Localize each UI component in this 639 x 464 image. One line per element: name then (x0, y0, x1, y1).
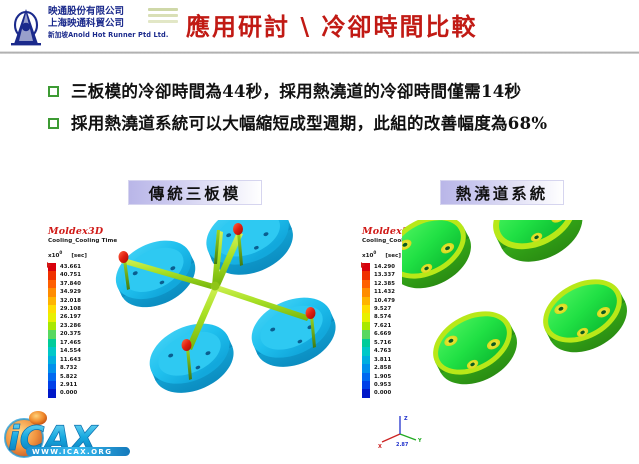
legend-swatch (362, 305, 370, 313)
axis-scale-value: 2.87 (396, 442, 409, 448)
legend-swatch (48, 356, 56, 364)
bullet-text: 三板模的冷卻時間為44秒，採用熱澆道的冷卻時間僅需14秒 (71, 80, 521, 103)
legend-swatch (48, 288, 56, 296)
logo-bar-1 (148, 8, 178, 11)
logo-bar-2 (148, 14, 178, 17)
legend-value: 14.554 (60, 347, 81, 355)
legend-swatch (362, 364, 370, 372)
legend-value: 29.108 (60, 305, 81, 313)
axis-label-y: Y (417, 438, 422, 444)
legend-swatch (48, 373, 56, 381)
legend-swatch (362, 280, 370, 288)
legend-swatch (48, 271, 56, 279)
legend-swatch (48, 381, 56, 389)
legend-value: 11.432 (374, 288, 395, 296)
icax-url-text: WWW.ICAX.ORG (32, 448, 112, 456)
logo-decorative-bars (148, 8, 178, 30)
mold-part (422, 299, 528, 398)
page-title: 應用研討 \ 冷卻時間比較 (186, 10, 516, 44)
legend-value: 2.858 (374, 364, 391, 372)
legend-swatch (362, 389, 370, 397)
square-bullet-icon (48, 86, 59, 97)
panel-caption-left: 傳統三板模 (128, 180, 262, 205)
legend-max-arrow-icon (47, 262, 51, 268)
legend-value: 6.669 (374, 330, 391, 338)
legend-swatch (362, 339, 370, 347)
legend-value: 0.000 (374, 389, 391, 397)
legend-swatch (362, 347, 370, 355)
unit-scale-left: x10 (48, 253, 59, 259)
legend-value: 3.811 (374, 356, 391, 364)
legend-swatch (362, 271, 370, 279)
legend-swatch (362, 297, 370, 305)
legend-swatch (48, 389, 56, 397)
legend-value: 13.337 (374, 271, 395, 279)
mold-part (140, 312, 243, 405)
mold-part (106, 229, 205, 319)
legend-swatch (48, 313, 56, 321)
legend-swatch (362, 381, 370, 389)
logo-bar-3 (148, 20, 178, 23)
legend-max-arrow-icon (361, 262, 365, 268)
mold-part (482, 220, 594, 275)
legend-value: 43.661 (60, 263, 81, 271)
company-line-3: 新加坡Anold Hot Runner Ptd Ltd. (48, 30, 176, 41)
legend-swatch (48, 305, 56, 313)
legend-swatch (362, 322, 370, 330)
legend-value: 4.763 (374, 347, 391, 355)
legend-value: 10.479 (374, 297, 395, 305)
slide-header: 映通股份有限公司 上海映通科貿公司 新加坡Anold Hot Runner Pt… (0, 0, 639, 52)
cae-panel-left: Moldex3D Cooling_Cooling Time x100[sec] … (48, 226, 348, 416)
legend-swatch (48, 347, 56, 355)
legend-value: 20.375 (60, 330, 81, 338)
cae-panel-right: Moldex3D Cooling_Cooling Time x100[sec] … (362, 226, 637, 416)
header-divider (0, 51, 639, 54)
axis-triad-icon: Z Y X 2.87 (378, 408, 436, 452)
unit-exponent-left: 0 (59, 250, 62, 255)
legend-value: 32.018 (60, 297, 81, 305)
legend-value: 8.574 (374, 313, 391, 321)
mold-model-hot-runner (402, 220, 639, 416)
legend-value: 8.732 (60, 364, 77, 372)
list-item: 三板模的冷卻時間為44秒，採用熱澆道的冷卻時間僅需14秒 (48, 80, 623, 103)
legend-value: 0.000 (60, 389, 77, 397)
legend-swatch (48, 297, 56, 305)
axis-label-x: X (378, 444, 382, 450)
legend-value: 2.911 (60, 381, 77, 389)
legend-value: 23.286 (60, 322, 81, 330)
list-item: 採用熱澆道系統可以大幅縮短成型週期，此組的改善幅度為68% (48, 112, 623, 135)
legend-swatch (362, 356, 370, 364)
mold-model-three-plate (90, 220, 348, 416)
legend-value: 5.716 (374, 339, 391, 347)
legend-value: 34.929 (60, 288, 81, 296)
legend-value: 17.465 (60, 339, 81, 347)
company-logo-block: 映通股份有限公司 上海映通科貿公司 新加坡Anold Hot Runner Pt… (6, 4, 176, 48)
mold-part (532, 267, 638, 366)
legend-value: 5.822 (60, 373, 77, 381)
legend-swatch (48, 339, 56, 347)
mold-part (402, 220, 482, 301)
legend-value: 7.621 (374, 322, 391, 330)
bullet-list: 三板模的冷卻時間為44秒，採用熱澆道的冷卻時間僅需14秒 採用熱澆道系統可以大幅… (48, 80, 623, 144)
icax-logo: iCAX WWW.ICAX.ORG (2, 404, 146, 462)
legend-swatch (362, 330, 370, 338)
legend-swatch (362, 288, 370, 296)
legend-swatch (362, 313, 370, 321)
unit-text-right: [sec] (385, 253, 401, 259)
unit-text-left: [sec] (71, 253, 87, 259)
legend-swatch (48, 364, 56, 372)
panel-caption-right: 熱澆道系統 (440, 180, 564, 205)
axis-label-z: Z (404, 416, 408, 422)
legend-swatch (48, 322, 56, 330)
legend-value: 40.751 (60, 271, 81, 279)
legend-value: 26.197 (60, 313, 81, 321)
company-logo-icon (8, 7, 44, 47)
unit-exponent-right: 0 (373, 250, 376, 255)
legend-value: 9.527 (374, 305, 391, 313)
unit-scale-right: x10 (362, 253, 373, 259)
legend-swatch (48, 330, 56, 338)
legend-value: 11.643 (60, 356, 81, 364)
slide-canvas: 映通股份有限公司 上海映通科貿公司 新加坡Anold Hot Runner Pt… (0, 0, 639, 464)
legend-swatch (362, 373, 370, 381)
legend-value: 12.385 (374, 280, 395, 288)
legend-value: 14.290 (374, 263, 395, 271)
legend-value: 0.953 (374, 381, 391, 389)
legend-value: 37.840 (60, 280, 81, 288)
legend-value: 1.905 (374, 373, 391, 381)
bullet-text: 採用熱澆道系統可以大幅縮短成型週期，此組的改善幅度為68% (71, 112, 547, 135)
square-bullet-icon (48, 118, 59, 129)
legend-swatch (48, 280, 56, 288)
